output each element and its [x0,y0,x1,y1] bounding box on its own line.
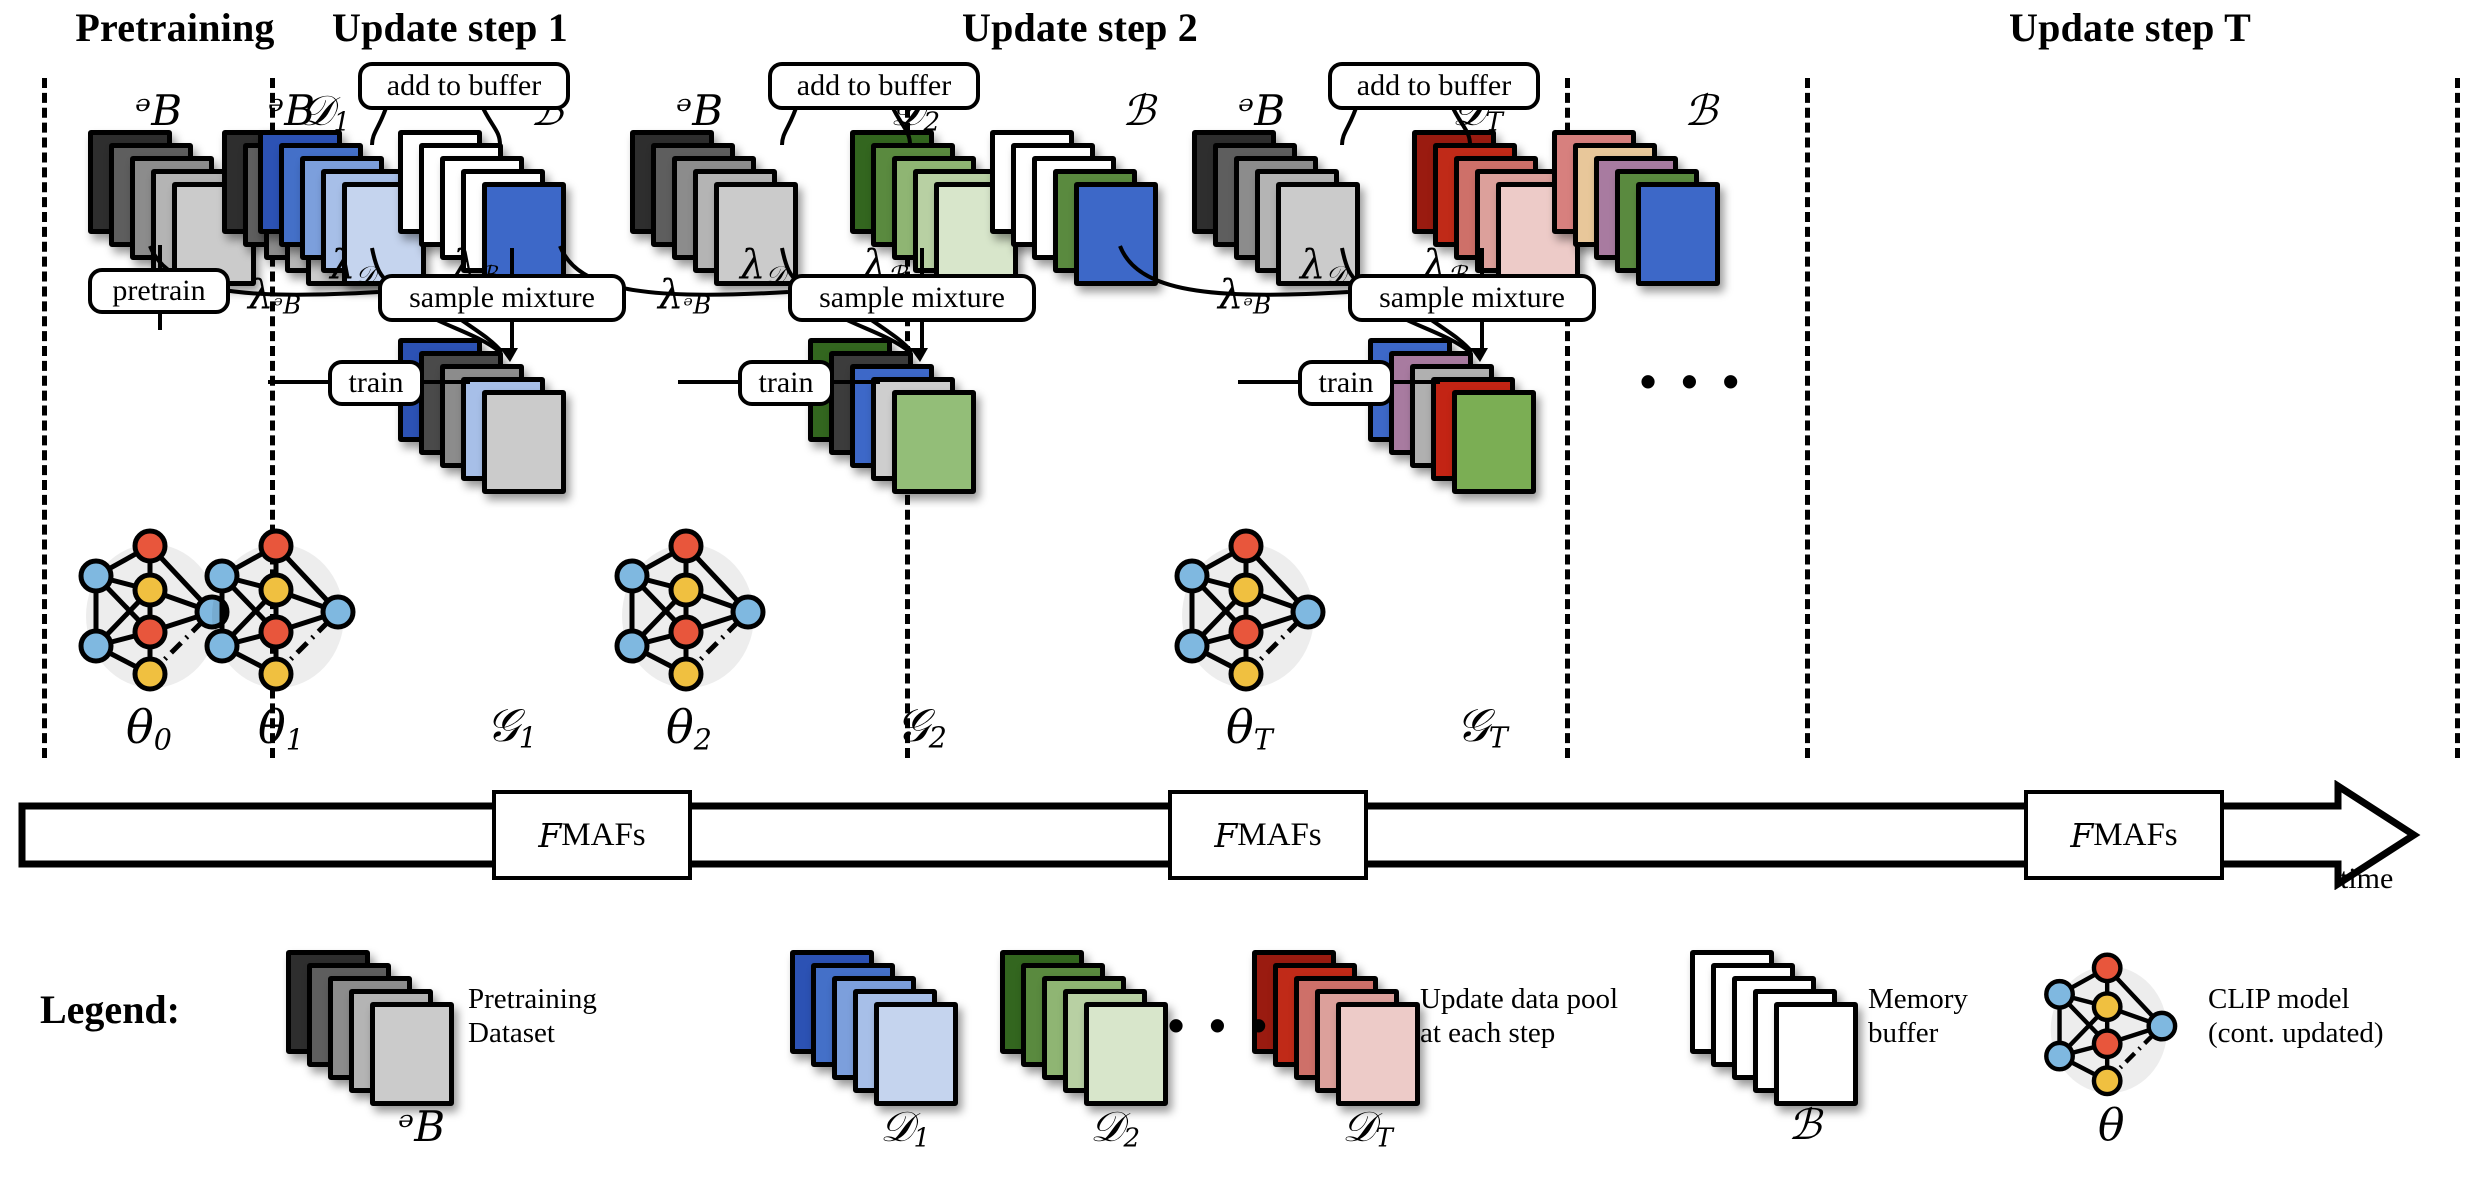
buffer-stack-T [1552,130,1712,250]
clip-model-graph-T [1166,528,1346,698]
legend-line1: Pretraining [468,982,597,1016]
sample-mixture-box-T[interactable]: sample mixture [1348,274,1596,322]
label-P-2: ᵊB [676,86,723,135]
lambda-sub: 𝒟 [1325,260,1345,289]
theta-glyph: θ [126,700,154,754]
legend-buffer-stack [1690,950,1850,1070]
label-P-0: ᵊB [135,86,182,135]
legend-data-pool-stack-1 [790,950,950,1070]
stack-card [370,1002,454,1106]
buffer-stack-2 [990,130,1150,250]
time-axis-label: time [2340,862,2393,896]
label-lambda-P-2: λᵊB [658,272,711,319]
sample-mixture-box-2[interactable]: sample mixture [788,274,1036,322]
label-lambda-D-T: λ𝒟 [1300,242,1345,289]
stack-card [1452,390,1536,494]
data-pool-stack-T [1412,130,1572,250]
pretrain-box[interactable]: pretrain [88,268,230,314]
legend-D-sub: T [1376,1124,1393,1154]
theta-sub: T [1254,723,1273,756]
column-title-update-2: Update step 2 [850,4,1310,51]
fmafs-label: MAFs [2093,817,2177,854]
fmafs-f: F [1214,816,1237,855]
label-D1-base: 𝒟 [300,86,334,135]
legend-title: Legend: [40,986,180,1033]
label-B-T: ℬ [1684,86,1717,135]
legend-line2: at each step [1420,1016,1618,1050]
data-pool-stack-2 [850,130,1010,250]
lambda-sub: ᵊB [683,290,711,319]
legend-theta-symbol: θ [2098,1100,2125,1151]
pretraining-stack-2 [630,130,790,250]
label-lambda-P-1: λᵊB [248,272,301,319]
theta-glyph: θ [258,700,286,754]
S-glyph: 𝒢 [1456,698,1489,752]
lambda-glyph: λ [658,272,683,318]
theta-sub: 0 [154,723,172,756]
legend-ellipsis: • • • [1168,1002,1275,1048]
sample-mixture-box-1[interactable]: sample mixture [378,274,626,322]
fmafs-box-2[interactable]: FMAFs [1168,790,1368,880]
legend-D-sub: 2 [1124,1124,1141,1154]
legend-pretraining-stack [286,950,446,1070]
theta-glyph: θ [666,700,694,754]
lambda-glyph: λ [330,242,355,288]
lambda-sub: ᵊB [273,290,301,319]
legend-D1-symbol: 𝒟1 [880,1102,930,1154]
column-title-update-T: Update step T [1900,4,2360,51]
train-box-2[interactable]: train [738,360,834,406]
label-S-2: 𝒢2 [896,698,947,754]
label-lambda-P-T: λᵊB [1218,272,1271,319]
label-theta-T: θT [1226,700,1273,756]
divider-5 [2455,78,2460,758]
legend-D-base: 𝒟 [1342,1102,1376,1151]
stack-card [1774,1002,1858,1106]
lambda-glyph: λ [1218,272,1243,318]
add-to-buffer-box-1[interactable]: add to buffer [358,62,570,110]
theta-glyph: θ [1226,700,1254,754]
fmafs-label: MAFs [561,817,645,854]
label-P-T: ᵊB [1238,86,1285,135]
lambda-sub: ᵊB [1243,290,1271,319]
theta-sub: 2 [694,723,712,756]
S-glyph: 𝒢 [486,698,519,752]
lambda-glyph: λ [1300,242,1325,288]
fmafs-label: MAFs [1237,817,1321,854]
label-D2-sub: 2 [924,108,941,138]
lambda-glyph: λ [248,272,273,318]
clip-model-graph-1 [196,528,376,698]
label-S-T: 𝒢T [1456,698,1508,754]
S-sub: T [1489,721,1508,754]
legend-DT-symbol: 𝒟T [1342,1102,1393,1154]
legend-clip-text: CLIP model (cont. updated) [2208,982,2384,1050]
stack-card [1074,182,1158,286]
stack-card [874,1002,958,1106]
legend-P-symbol: ᵊB [398,1102,445,1151]
legend-line1: CLIP model [2208,982,2384,1016]
theta-sub: 1 [286,723,304,756]
train-box-T[interactable]: train [1298,360,1394,406]
legend-line1: Memory [1868,982,1968,1016]
add-to-buffer-box-T[interactable]: add to buffer [1328,62,1540,110]
label-theta-2: θ2 [666,700,712,756]
S-sub: 2 [929,721,947,754]
stack-card [482,390,566,494]
lambda-glyph: λ [740,242,765,288]
S-glyph: 𝒢 [896,698,929,752]
data-pool-stack-1 [258,130,418,250]
stack-card [1636,182,1720,286]
legend-data-pool-stack-T [1252,950,1412,1070]
lambda-sub: 𝒟 [355,260,375,289]
label-theta-1: θ1 [258,700,304,756]
legend-data-pool-stack-2 [1000,950,1160,1070]
legend-data-pool-text: Update data pool at each step [1420,982,1618,1050]
legend-D-base: 𝒟 [1090,1102,1124,1151]
stack-card [1336,1002,1420,1106]
legend-line2: (cont. updated) [2208,1016,2384,1050]
legend-buffer-text: Memory buffer [1868,982,1968,1050]
train-box-1[interactable]: train [328,360,424,406]
legend-D2-symbol: 𝒟2 [1090,1102,1140,1154]
add-to-buffer-box-2[interactable]: add to buffer [768,62,980,110]
divider-4 [1805,78,1810,758]
legend-line1: Update data pool [1420,982,1618,1016]
label-lambda-D-1: λ𝒟 [330,242,375,289]
lambda-sub: 𝒟 [765,260,785,289]
label-theta-0: θ0 [126,700,172,756]
label-lambda-D-2: λ𝒟 [740,242,785,289]
buffer-stack-1 [398,130,558,250]
divider-0 [42,78,47,758]
legend-D-sub: 1 [914,1124,931,1154]
ellipsis-between-steps: • • • [1640,358,1747,404]
fmafs-box-1[interactable]: FMAFs [492,790,692,880]
legend-line2: buffer [1868,1016,1968,1050]
label-D1-sub: 1 [334,108,351,138]
stack-card [1084,1002,1168,1106]
legend-B-symbol: ℬ [1788,1100,1821,1149]
label-DT-sub: T [1486,108,1503,138]
legend-D-base: 𝒟 [880,1102,914,1151]
legend-line2: Dataset [468,1016,597,1050]
stack-card [892,390,976,494]
fmafs-box-T[interactable]: FMAFs [2024,790,2224,880]
legend-pretraining-text: Pretraining Dataset [468,982,597,1050]
label-B-2: ℬ [1122,86,1155,135]
column-title-update-1: Update step 1 [220,4,680,51]
fmafs-f: F [538,816,561,855]
S-sub: 1 [519,721,537,754]
label-D1: 𝒟1 [300,86,350,138]
legend-clip-graph [2036,952,2196,1102]
clip-model-graph-2 [606,528,786,698]
fmafs-f: F [2070,816,2093,855]
label-S-1: 𝒢1 [486,698,537,754]
pretraining-stack-T [1192,130,1352,250]
